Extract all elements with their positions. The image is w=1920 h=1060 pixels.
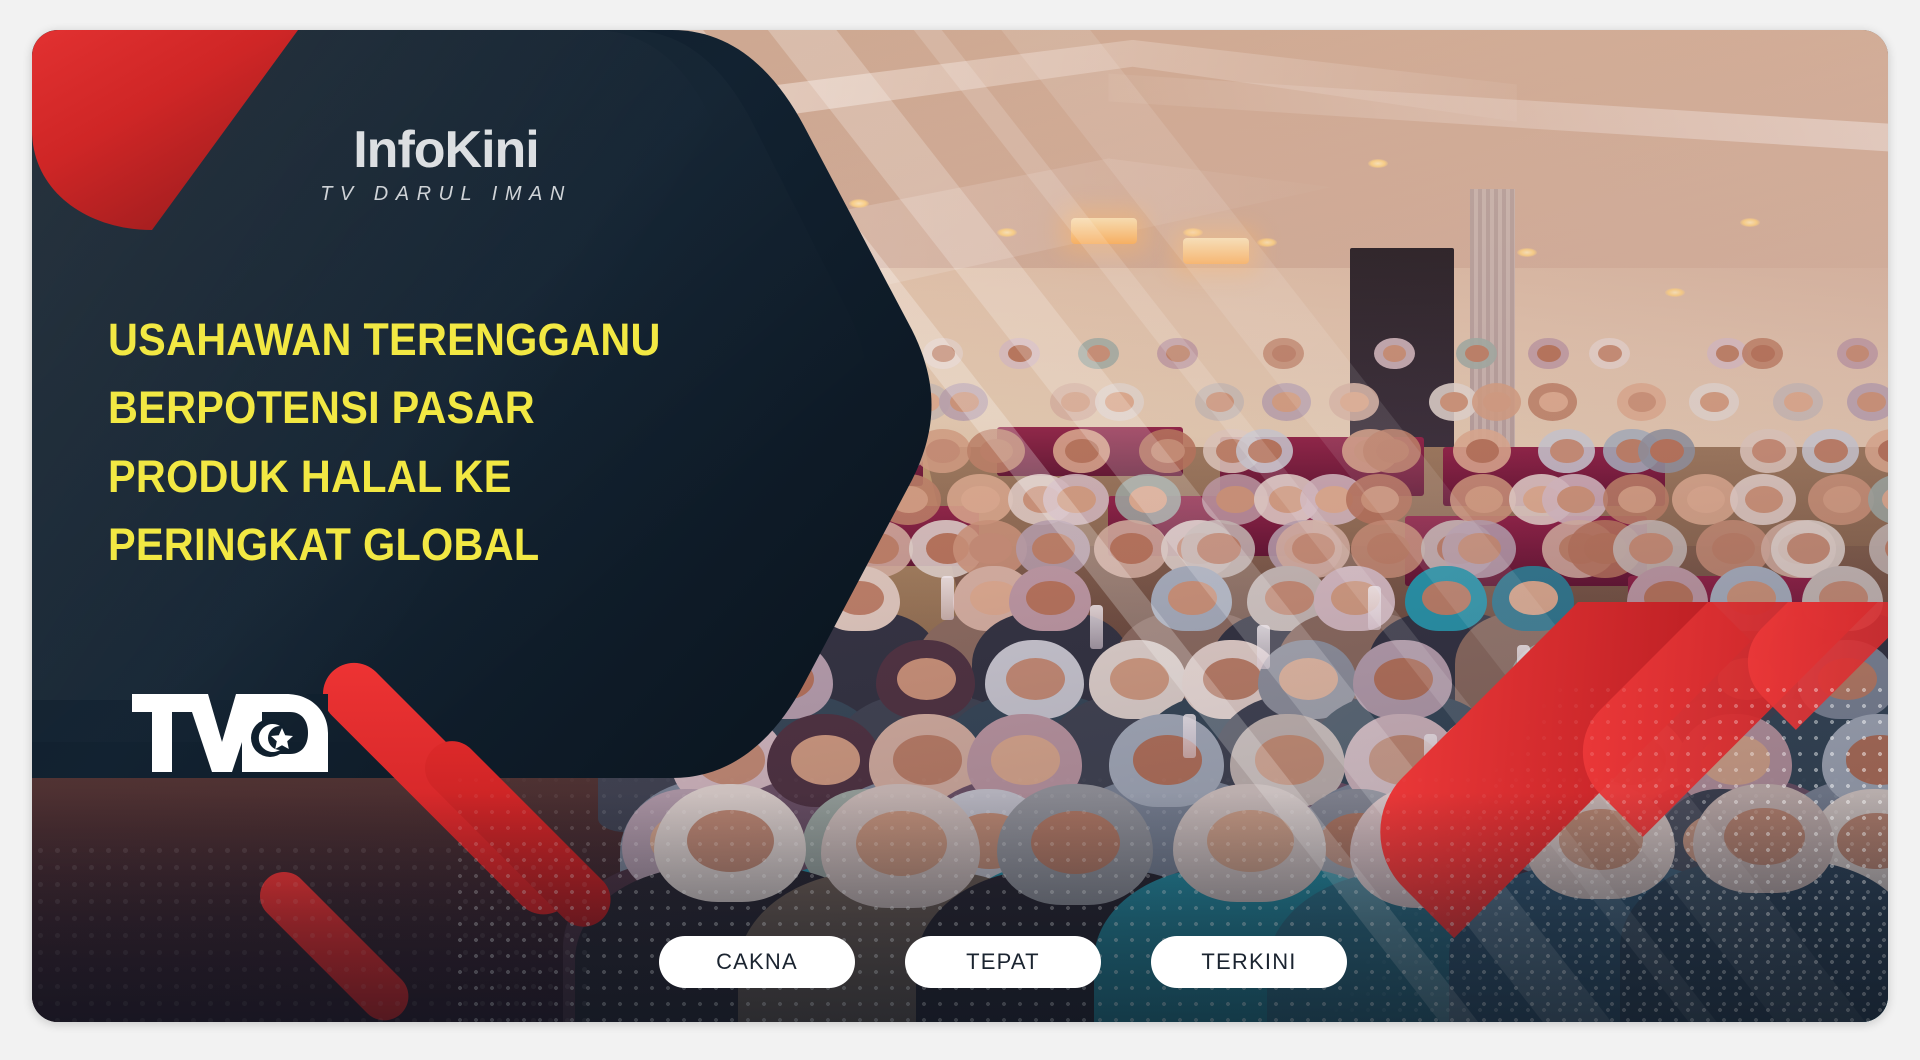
tagline-pill-terkini[interactable]: TERKINI <box>1151 936 1347 988</box>
screenshot-stage: InfoKini TV DARUL IMAN USAHAWAN TERENGGA… <box>0 0 1920 1060</box>
headline-line: BERPOTENSI PASAR <box>108 374 660 442</box>
news-card: InfoKini TV DARUL IMAN USAHAWAN TERENGGA… <box>32 30 1888 1022</box>
headline: USAHAWAN TERENGGANU BERPOTENSI PASAR PRO… <box>108 306 708 580</box>
brand-lockup: InfoKini TV DARUL IMAN <box>236 124 656 206</box>
crescent-star-icon <box>251 719 293 757</box>
tagline-pill-row: CAKNA TEPAT TERKINI <box>32 936 1888 988</box>
headline-line: USAHAWAN TERENGGANU <box>108 306 660 374</box>
brand-subtitle: TV DARUL IMAN <box>236 183 656 206</box>
tagline-pill-tepat[interactable]: TEPAT <box>905 936 1101 988</box>
headline-line: PRODUK HALAL KE <box>108 443 660 511</box>
tvd-logo <box>130 690 330 776</box>
tagline-pill-cakna[interactable]: CAKNA <box>659 936 855 988</box>
headline-line: PERINGKAT GLOBAL <box>108 511 660 579</box>
brand-name: InfoKini <box>236 124 656 176</box>
